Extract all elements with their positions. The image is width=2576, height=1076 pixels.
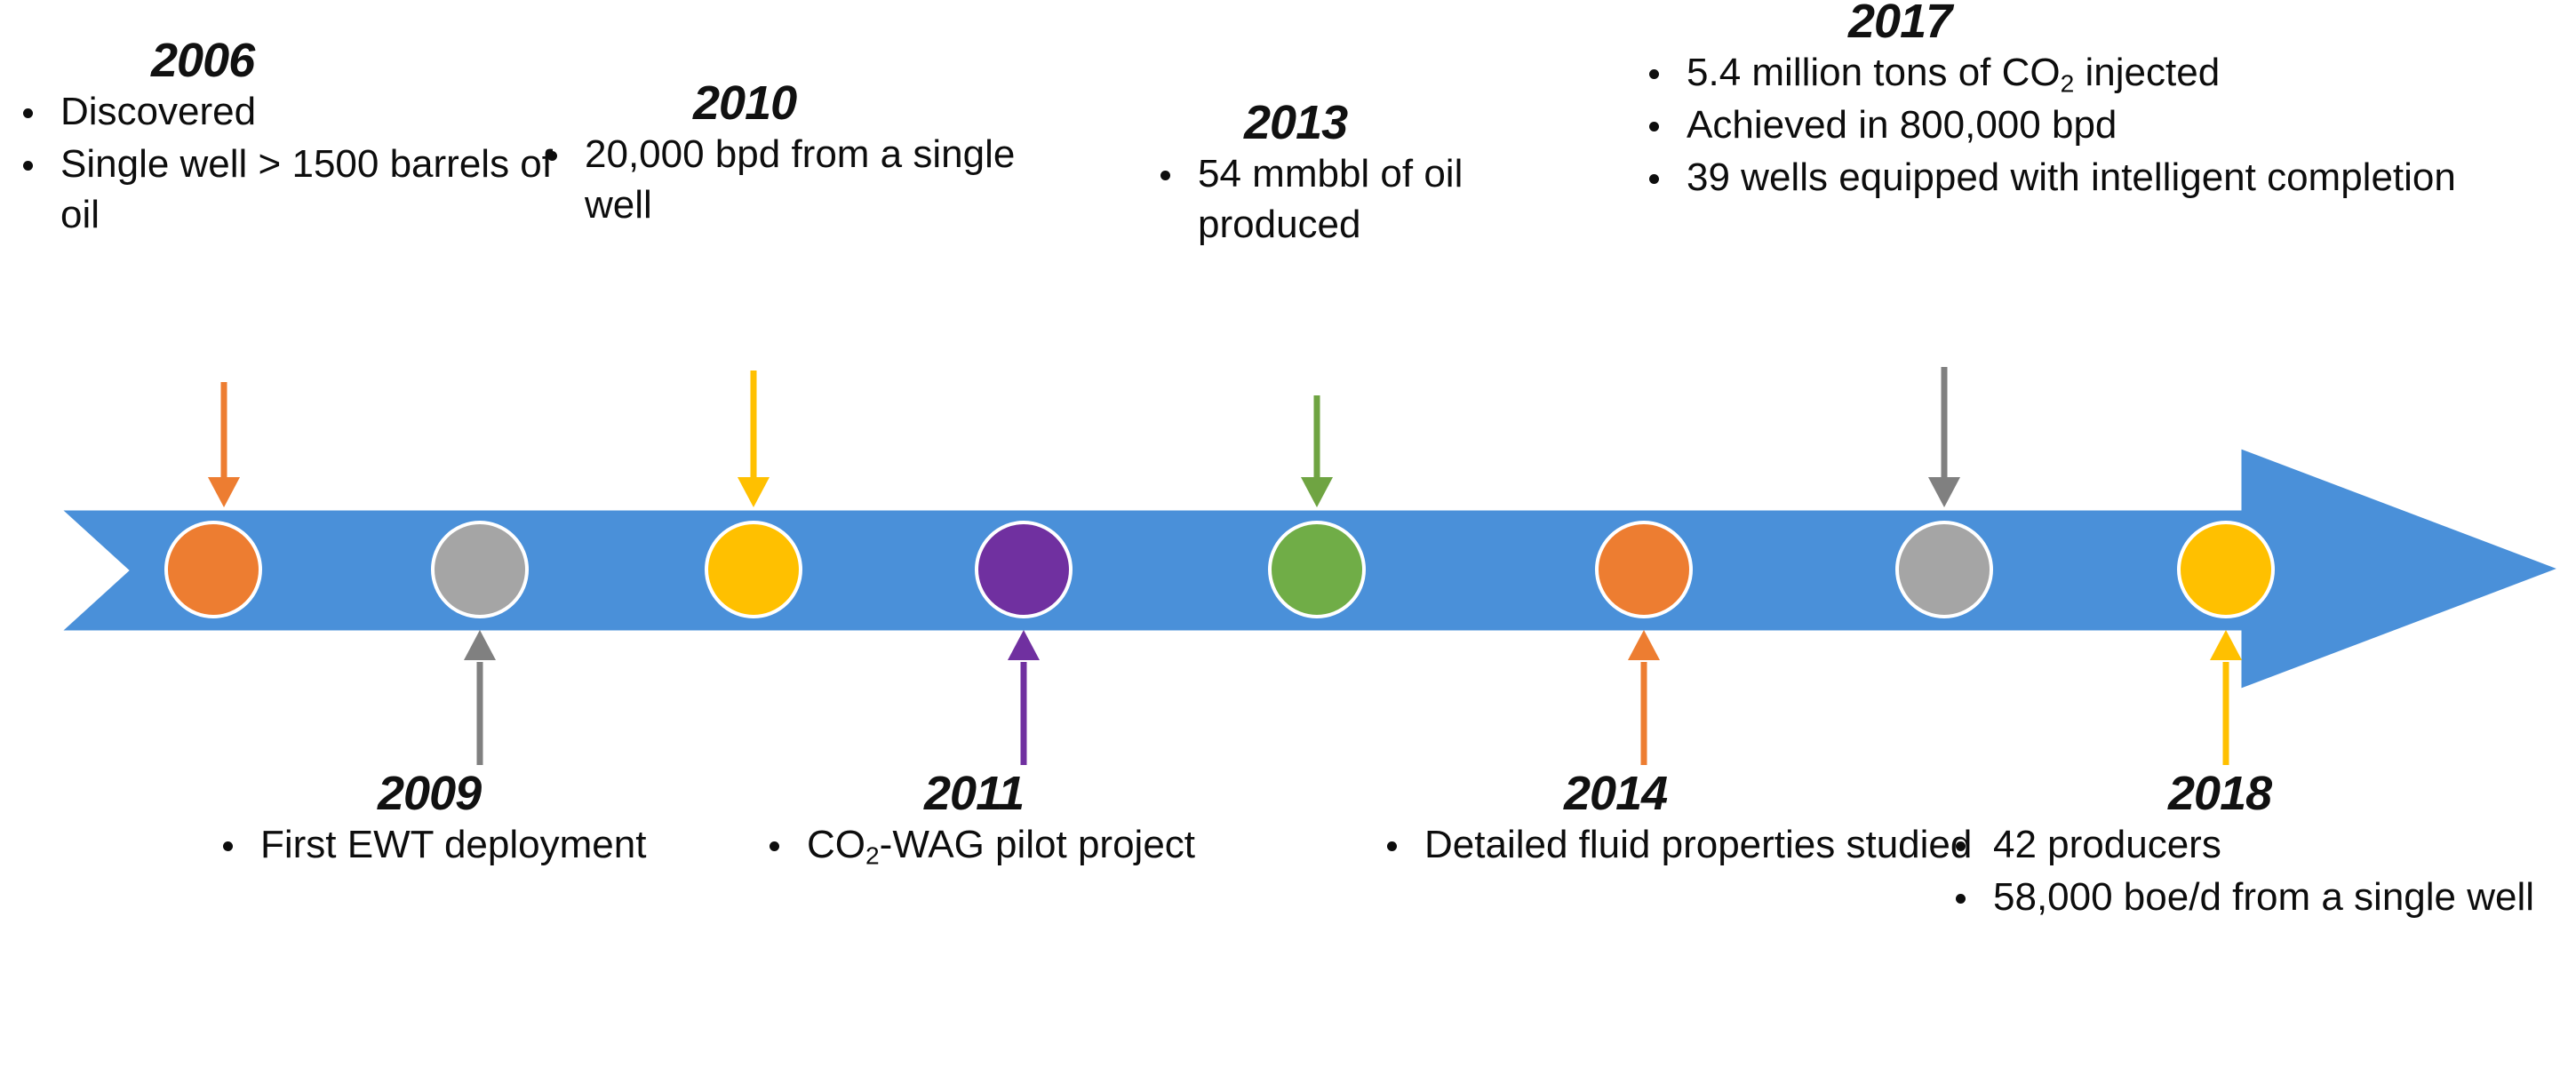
bullet-text-tail: injected	[2074, 51, 2220, 94]
milestone-year-2010: 2010	[693, 78, 1084, 129]
milestone-block-2010: 2010 20,000 bpd from a single well	[533, 78, 1084, 232]
milestone-block-2013: 2013 54 mmbbl of oil produced	[1146, 98, 1608, 251]
timeline-node-2017[interactable]	[1895, 521, 1993, 618]
milestone-bullets-2013: 54 mmbbl of oil produced	[1146, 148, 1608, 250]
bullet-text-tail: -WAG pilot project	[880, 823, 1195, 866]
milestone-block-2009: 2009 First EWT deployment	[209, 769, 742, 872]
timeline-node-2013[interactable]	[1268, 521, 1366, 618]
bullet-item: Discovered	[9, 86, 578, 137]
bullet-item: Achieved in 800,000 bpd	[1635, 100, 2532, 150]
milestone-year-2013: 2013	[1244, 98, 1608, 148]
connector-arrow-2017	[1918, 363, 1971, 511]
connector-arrow-2011	[997, 626, 1050, 769]
milestone-year-2009: 2009	[378, 769, 742, 819]
milestone-bullets-2009: First EWT deployment	[209, 819, 742, 870]
bullet-item: 5.4 million tons of CO2 injected	[1635, 47, 2532, 98]
timeline-node-2011[interactable]	[975, 521, 1073, 618]
bullet-item: 54 mmbbl of oil produced	[1146, 148, 1608, 250]
milestone-bullets-2014: Detailed fluid properties studied	[1373, 819, 1977, 870]
milestone-year-2006: 2006	[151, 36, 578, 86]
timeline-node-2014[interactable]	[1595, 521, 1693, 618]
milestone-year-2014: 2014	[1564, 769, 1977, 819]
subscript-2: 2	[865, 841, 880, 869]
milestone-year-2017: 2017	[1848, 0, 2532, 47]
timeline-diagram: 2006 Discovered Single well > 1500 barre…	[0, 0, 2576, 1076]
milestone-block-2011: 2011 CO2-WAG pilot project	[755, 769, 1288, 872]
connector-arrow-2006	[197, 378, 251, 511]
milestone-bullets-2017: 5.4 million tons of CO2 injected Achieve…	[1635, 47, 2532, 203]
timeline-node-2018[interactable]	[2177, 521, 2275, 618]
subscript-2: 2	[2061, 69, 2075, 97]
timeline-node-2010[interactable]	[705, 521, 802, 618]
milestone-bullets-2018: 42 producers 58,000 boe/d from a single …	[1942, 819, 2564, 922]
connector-arrow-2009	[453, 626, 506, 769]
milestone-block-2014: 2014 Detailed fluid properties studied	[1373, 769, 1977, 872]
bullet-item: 58,000 boe/d from a single well	[1942, 872, 2564, 922]
connector-arrow-2013	[1290, 391, 1344, 511]
bullet-item: 20,000 bpd from a single well	[533, 129, 1084, 230]
milestone-bullets-2010: 20,000 bpd from a single well	[533, 129, 1084, 230]
milestone-year-2018: 2018	[2168, 769, 2564, 819]
bullet-item: Detailed fluid properties studied	[1373, 819, 1977, 870]
milestone-bullets-2011: CO2-WAG pilot project	[755, 819, 1288, 870]
bullet-item: 42 producers	[1942, 819, 2564, 870]
milestone-block-2006: 2006 Discovered Single well > 1500 barre…	[9, 36, 578, 242]
timeline-node-2006[interactable]	[164, 521, 262, 618]
connector-arrow-2010	[727, 366, 780, 511]
milestone-bullets-2006: Discovered Single well > 1500 barrels of…	[9, 86, 578, 241]
bullet-item: First EWT deployment	[209, 819, 742, 870]
milestone-block-2017: 2017 5.4 million tons of CO2 injected Ac…	[1635, 0, 2532, 204]
milestone-block-2018: 2018 42 producers 58,000 boe/d from a si…	[1942, 769, 2564, 924]
bullet-text: 5.4 million tons of CO	[1687, 51, 2061, 94]
milestone-year-2011: 2011	[924, 769, 1288, 819]
connector-arrow-2018	[2199, 626, 2253, 769]
bullet-item: 39 wells equipped with intelligent compl…	[1635, 152, 2532, 203]
bullet-text: CO	[807, 823, 865, 866]
bullet-item: CO2-WAG pilot project	[755, 819, 1288, 870]
connector-arrow-2014	[1617, 626, 1671, 769]
bullet-item: Single well > 1500 barrels of oil	[9, 139, 578, 240]
timeline-node-2009[interactable]	[431, 521, 529, 618]
